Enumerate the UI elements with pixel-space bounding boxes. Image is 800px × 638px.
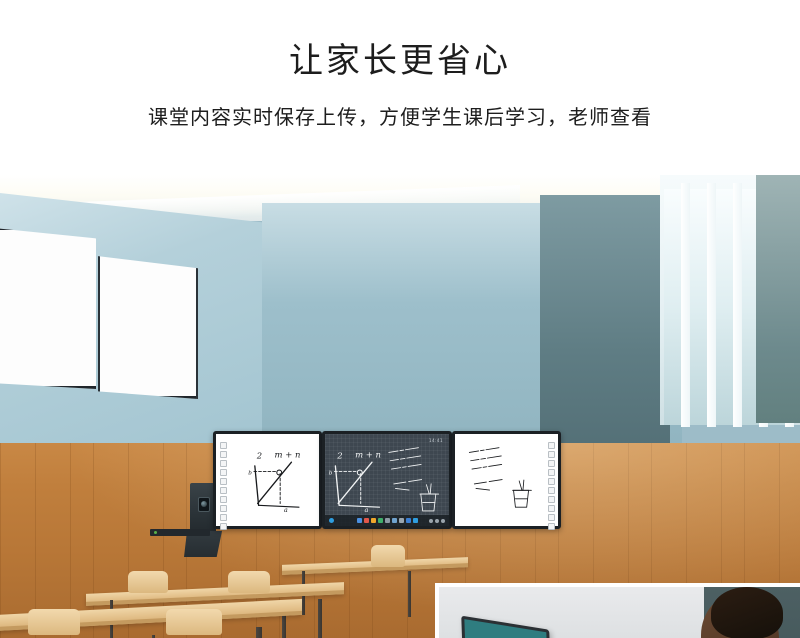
svg-text:2: 2: [256, 450, 262, 460]
teacher-chair: [371, 545, 405, 567]
pen-icon[interactable]: [357, 518, 362, 523]
camera-lens-icon: [198, 497, 210, 512]
highlighter-icon[interactable]: [364, 518, 369, 523]
desk-leg: [256, 627, 262, 638]
student-chair: [228, 571, 270, 593]
classroom-scene: 2 m + n b a: [0, 175, 800, 638]
redo-icon[interactable]: [548, 496, 555, 503]
student-laptop-photo: 2 m+n: [435, 583, 800, 638]
whiteboard-left[interactable]: 2 m + n b a: [213, 431, 322, 529]
eraser-icon[interactable]: [220, 460, 227, 467]
board-clock: 14:41: [429, 438, 443, 443]
whiteboard-left-ink: 2 m + n b a: [216, 434, 319, 526]
board-status-icons[interactable]: [429, 519, 445, 523]
whiteboard-right[interactable]: [452, 431, 561, 529]
svg-text:a: a: [284, 506, 288, 514]
page-icon[interactable]: [548, 505, 555, 512]
save-icon[interactable]: [220, 514, 227, 521]
wall-right: [540, 195, 670, 455]
page-icon[interactable]: [220, 505, 227, 512]
palette-icon[interactable]: [371, 518, 376, 523]
svg-text:b: b: [248, 470, 252, 476]
page-header: 让家长更省心 课堂内容实时保存上传，方便学生课后学习，老师查看: [0, 0, 800, 175]
shape-icon[interactable]: [220, 469, 227, 476]
undo-icon[interactable]: [548, 487, 555, 494]
undo-icon[interactable]: [399, 518, 404, 523]
select-icon[interactable]: [220, 442, 227, 449]
undo-icon[interactable]: [220, 487, 227, 494]
projection-screen-2: [98, 247, 198, 399]
redo-icon[interactable]: [220, 496, 227, 503]
pen-icon[interactable]: [220, 451, 227, 458]
wall-far-right: [756, 175, 800, 423]
save-icon[interactable]: [548, 514, 555, 521]
text-icon[interactable]: [220, 478, 227, 485]
student-hair: [711, 587, 783, 638]
board-undertray: [150, 529, 210, 536]
eraser-icon[interactable]: [548, 460, 555, 467]
svg-text:m + n: m + n: [275, 449, 301, 459]
whiteboard-right-ink: [455, 434, 558, 526]
desk-leg: [318, 599, 322, 638]
more-icon[interactable]: [220, 523, 227, 530]
save-icon[interactable]: [413, 518, 418, 523]
desk-leg: [408, 571, 411, 617]
interactive-display-center[interactable]: 14:41 2 m + n b a: [322, 431, 452, 529]
projection-screen-1: [0, 227, 96, 389]
apps-icon[interactable]: [406, 518, 411, 523]
student-chair: [28, 609, 80, 635]
page-title: 让家长更省心: [289, 42, 511, 81]
board-grid-texture: [325, 434, 449, 526]
pen-icon[interactable]: [548, 451, 555, 458]
eraser-icon[interactable]: [385, 518, 390, 523]
whiteboard-left-toolstrip[interactable]: [219, 442, 227, 530]
board-menu-icon[interactable]: [329, 518, 334, 523]
page-subtitle: 课堂内容实时保存上传，方便学生课后学习，老师查看: [148, 105, 652, 129]
display-wall: 2 m + n b a: [213, 431, 561, 529]
whiteboard-right-toolstrip[interactable]: [547, 442, 555, 530]
text-icon[interactable]: [378, 518, 383, 523]
text-icon[interactable]: [548, 478, 555, 485]
more-icon[interactable]: [548, 523, 555, 530]
landing-page: 让家长更省心 课堂内容实时保存上传，方便学生课后学习，老师查看: [0, 0, 800, 638]
select-icon[interactable]: [548, 442, 555, 449]
shape-icon[interactable]: [548, 469, 555, 476]
student-chair: [128, 571, 168, 593]
shape-icon[interactable]: [392, 518, 397, 523]
student-chair: [166, 609, 222, 635]
